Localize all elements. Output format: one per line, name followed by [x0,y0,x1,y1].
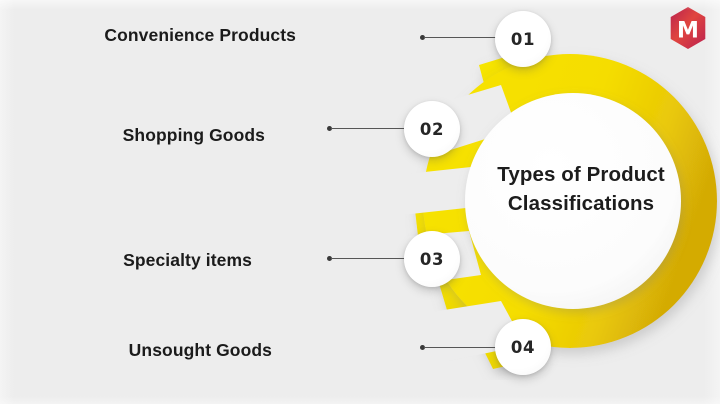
connector-stroke [331,128,415,129]
logo-letter-m: M [677,19,699,44]
number-badge-label: 04 [511,338,535,357]
item-label-shopping-goods: Shopping Goods [123,127,265,145]
number-badge-label: 01 [511,30,535,49]
connector-dot-start [327,256,332,261]
connector-dot-start [327,126,332,131]
item-label-convenience-products: Convenience Products [104,27,296,45]
number-badge-04[interactable]: 04 [495,319,551,375]
infographic-canvas: Types of Product Classifications 01 02 0… [0,0,720,404]
number-badge-02[interactable]: 02 [404,101,460,157]
number-badge-03[interactable]: 03 [404,231,460,287]
center-title-line-1: Types of Product [497,163,665,186]
connector-stroke [331,258,415,259]
center-title-line-2: Classifications [465,189,697,218]
item-label-specialty-items: Specialty items [123,252,252,270]
number-badge-label: 02 [420,120,444,139]
marketing91-logo[interactable]: M [668,6,708,50]
number-badge-01[interactable]: 01 [495,11,551,67]
number-badge-label: 03 [420,250,444,269]
item-label-unsought-goods: Unsought Goods [129,342,272,360]
center-title: Types of Product Classifications [465,160,697,218]
